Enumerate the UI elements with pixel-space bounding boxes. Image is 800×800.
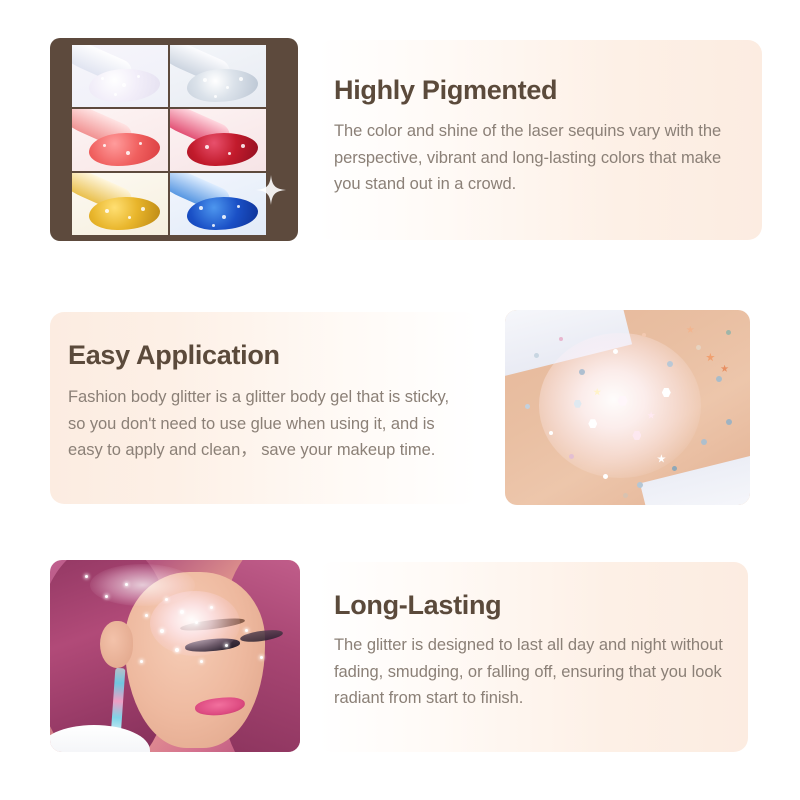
feature-body-highly-pigmented: The color and shine of the laser sequins… [334, 118, 752, 198]
swatch-silver [170, 45, 266, 107]
glitter-fleck [549, 431, 553, 435]
sparkle-dot [103, 144, 106, 147]
feature-card-long-lasting: Long-Lasting The glitter is designed to … [318, 562, 748, 752]
model-ear [100, 621, 133, 667]
feature-title-easy-application: Easy Application [68, 340, 458, 371]
glitter-swatch-grid-image [50, 38, 298, 241]
sparkle-dot [214, 95, 217, 98]
glitter-on-skin-image [505, 310, 750, 505]
swatch-blue [170, 173, 266, 235]
glitter-fleck [696, 345, 701, 350]
glitter-fleck [525, 404, 530, 409]
swatch-gel-blob [187, 69, 258, 102]
glitter-fleck [579, 369, 585, 375]
product-feature-page: Highly Pigmented The color and shine of … [0, 0, 800, 800]
sparkle-dot [105, 209, 109, 213]
feature-title-long-lasting: Long-Lasting [334, 590, 724, 621]
swatch-gel-blob [89, 197, 160, 230]
glitter-fleck [726, 419, 732, 425]
swatch-pink-coral [72, 109, 168, 171]
sparkle-dot [222, 215, 226, 219]
glitter-star [706, 353, 715, 362]
sparkle-dot [260, 656, 263, 659]
feature-card-easy-application: Easy Application Fashion body glitter is… [50, 312, 478, 504]
feature-title-highly-pigmented: Highly Pigmented [334, 75, 734, 106]
sparkle-dot [200, 660, 203, 663]
swatch-gel-blob [187, 197, 258, 230]
swatch-gel-blob [187, 133, 258, 166]
feature-card-highly-pigmented: Highly Pigmented The color and shine of … [318, 40, 762, 240]
sparkle-dot [205, 145, 209, 149]
glitter-fleck [613, 349, 618, 354]
glitter-fleck [701, 439, 707, 445]
sparkle-dot [241, 144, 245, 148]
feature-body-easy-application: Fashion body glitter is a glitter body g… [68, 384, 458, 464]
glitter-fleck [623, 493, 628, 498]
glitter-fleck [667, 361, 673, 367]
sparkle-dot [145, 614, 148, 617]
swatch-gel-blob [89, 133, 160, 166]
glitter-fleck [672, 466, 677, 471]
feature-body-long-lasting: The glitter is designed to last all day … [334, 632, 730, 712]
glitter-fleck [726, 330, 731, 335]
swatch-red [170, 109, 266, 171]
glitter-fleck [637, 482, 643, 488]
glitter-star [721, 365, 729, 373]
glitter-star [686, 326, 694, 334]
sparkle-dot [226, 86, 229, 89]
swatch-white-iridescent [72, 45, 168, 107]
swatch-grid [72, 45, 266, 235]
sparkle-dot [140, 660, 143, 663]
model-glitter-makeup-image [50, 560, 300, 752]
glitter-fleck [603, 474, 608, 479]
glitter-fleck [716, 376, 722, 382]
sparkle-dot [105, 595, 108, 598]
sparkle-dot [126, 151, 130, 155]
sparkle-dot [180, 610, 184, 614]
swatch-gold [72, 173, 168, 235]
